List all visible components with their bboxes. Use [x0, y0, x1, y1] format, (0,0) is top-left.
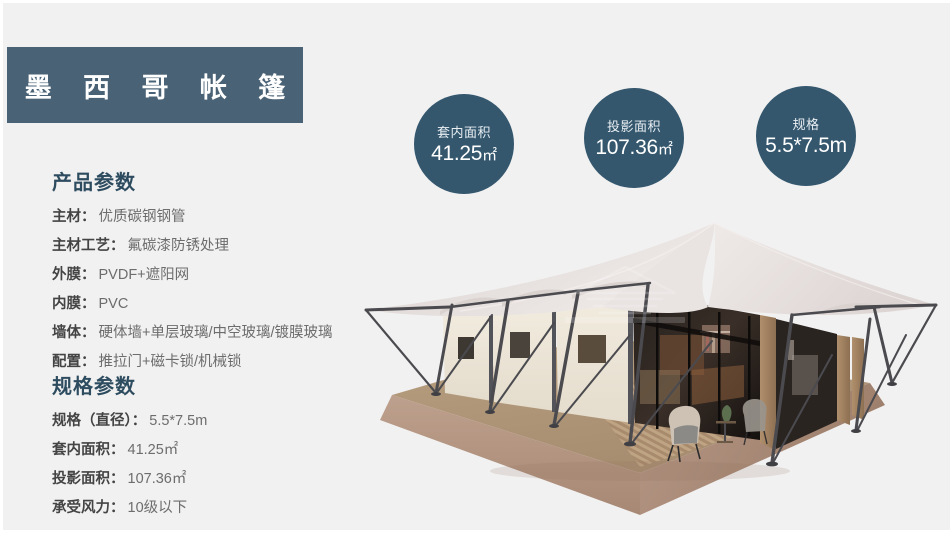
spec-value: 硬体墙+单层玻璃/中空玻璃/镀膜玻璃 [99, 323, 333, 344]
spec-label: 外膜： [52, 265, 96, 286]
frame-edge-top [0, 0, 950, 3]
spec-row: 外膜： PVDF+遮阳网 [52, 265, 333, 286]
spec-value: 41.25㎡ [128, 440, 179, 461]
spec-value: PVDF+遮阳网 [99, 265, 190, 286]
spec-row: 投影面积： 107.36㎡ [52, 469, 207, 490]
spec-row: 主材工艺： 氟碳漆防锈处理 [52, 236, 333, 257]
frame-edge-bottom [0, 530, 950, 534]
stat-badge-dimensions: 规格 5.5*7.5m [756, 86, 856, 186]
badge-value: 5.5*7.5m [765, 134, 847, 158]
frame-edge-left [0, 0, 3, 534]
spec-row: 墙体： 硬体墙+单层玻璃/中空玻璃/镀膜玻璃 [52, 323, 333, 344]
spec-value: 氟碳漆防锈处理 [128, 236, 230, 257]
badge-value: 107.36㎡ [595, 136, 672, 160]
poster-canvas: 墨 西 哥 帐 篷 套内面积 41.25㎡ 投影面积 107.36㎡ 规格 5.… [0, 0, 950, 534]
badge-unit: ㎡ [658, 141, 673, 158]
spec-row: 规格（直径）： 5.5*7.5m [52, 411, 207, 432]
specification-parameters-section: 规格参数 规格（直径）： 5.5*7.5m 套内面积： 41.25㎡ 投影面积：… [52, 370, 207, 527]
spec-row: 套内面积： 41.25㎡ [52, 440, 207, 461]
title-banner: 墨 西 哥 帐 篷 [7, 47, 303, 123]
spec-row: 内膜： PVC [52, 294, 333, 315]
spec-row: 主材： 优质碳钢钢管 [52, 207, 333, 228]
spec-value: 10级以下 [128, 498, 188, 519]
spec-label: 主材： [52, 207, 96, 228]
spec-value: PVC [99, 294, 129, 315]
stat-badge-projected-area: 投影面积 107.36㎡ [584, 88, 684, 188]
section-heading: 规格参数 [52, 370, 207, 399]
spec-label: 内膜： [52, 294, 96, 315]
spec-value: 107.36㎡ [128, 469, 187, 490]
badge-label: 投影面积 [607, 116, 661, 135]
spec-label: 规格（直径）： [52, 411, 146, 432]
tent-render-image [340, 215, 950, 530]
badge-value: 41.25㎡ [431, 142, 497, 166]
product-parameters-section: 产品参数 主材： 优质碳钢钢管 主材工艺： 氟碳漆防锈处理 外膜： PVDF+遮… [52, 166, 333, 381]
page-title: 墨 西 哥 帐 篷 [14, 66, 297, 105]
stat-badge-interior-area: 套内面积 41.25㎡ [414, 94, 514, 194]
spec-label: 主材工艺： [52, 236, 125, 257]
spec-label: 承受风力： [52, 498, 125, 519]
spec-label: 投影面积： [52, 469, 125, 490]
spec-label: 墙体： [52, 323, 96, 344]
section-heading: 产品参数 [52, 166, 333, 195]
spec-value: 5.5*7.5m [149, 411, 207, 432]
spec-value: 优质碳钢钢管 [99, 207, 186, 228]
spec-row: 承受风力： 10级以下 [52, 498, 207, 519]
badge-label: 套内面积 [437, 122, 491, 141]
badge-unit: ㎡ [482, 147, 497, 164]
badge-label: 规格 [792, 114, 819, 133]
spec-label: 套内面积： [52, 440, 125, 461]
